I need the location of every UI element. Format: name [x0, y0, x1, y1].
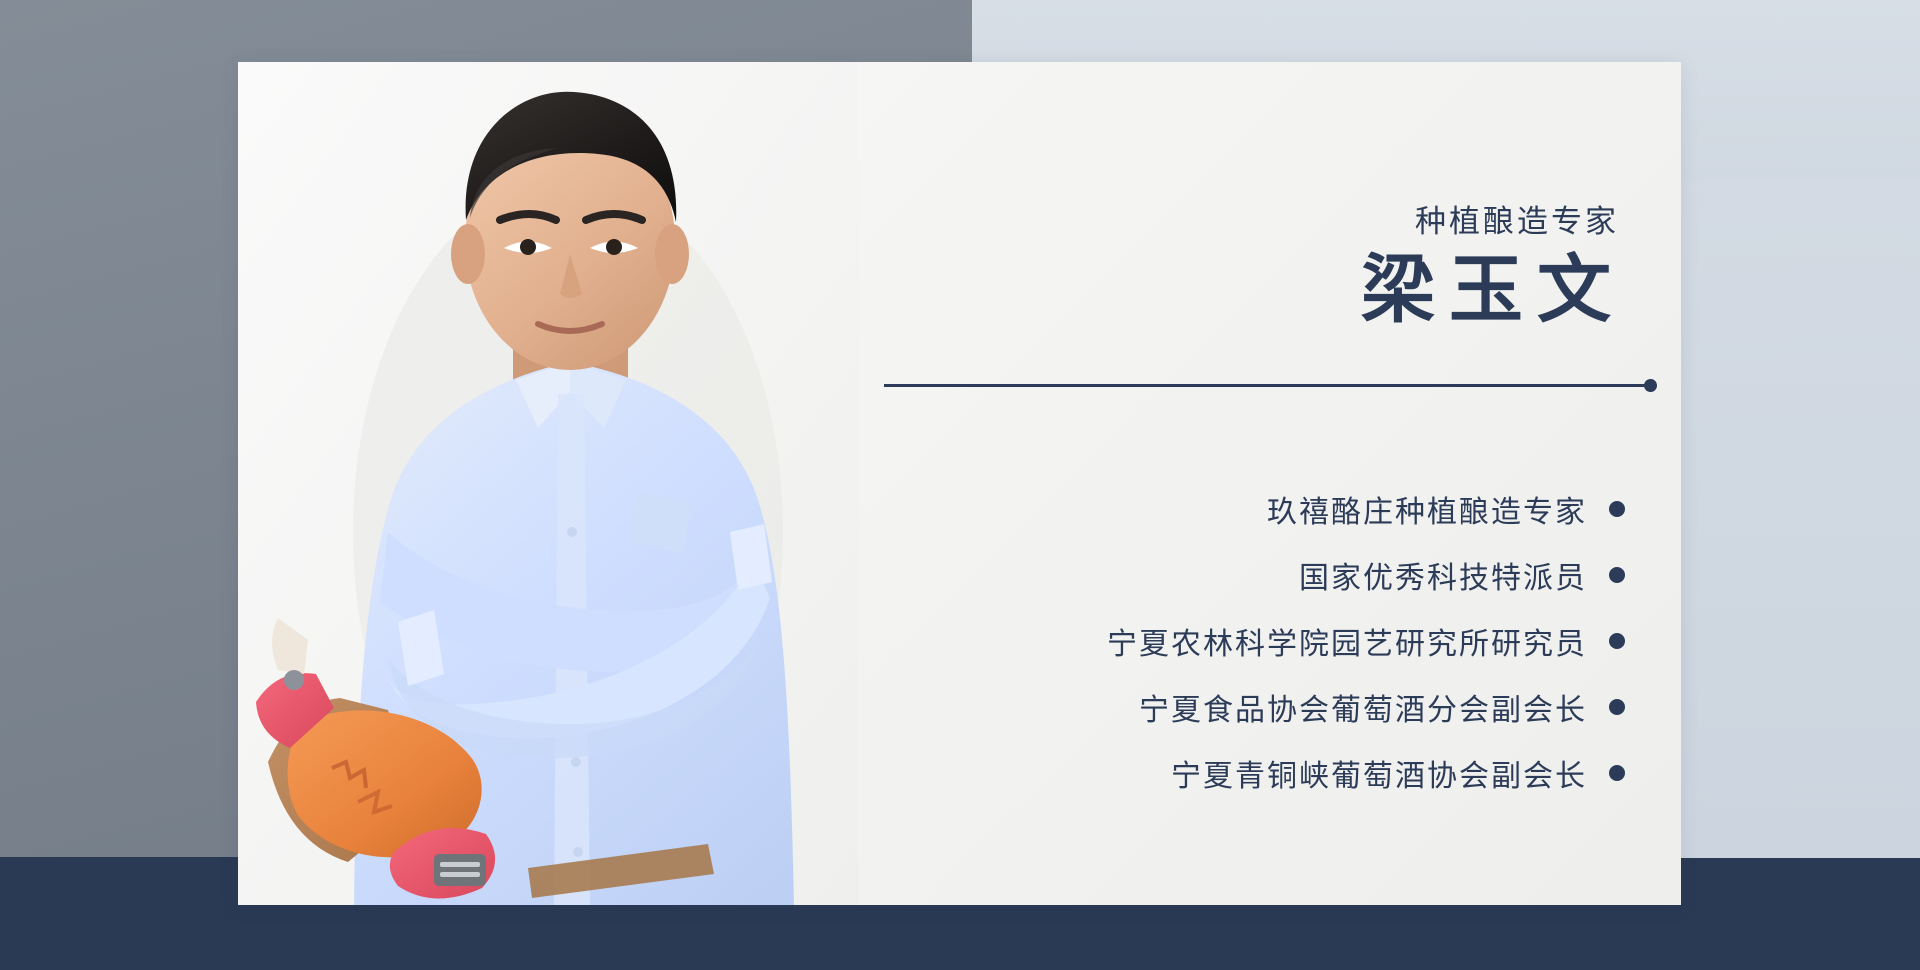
bullet-dot-icon	[1609, 567, 1625, 583]
role-subtitle: 种植酿造专家	[1415, 196, 1619, 241]
divider-line	[884, 384, 1649, 387]
poster-canvas: 种植酿造专家 梁玉文 玖禧酪庄种植酿造专家 国家优秀科技特派员 宁夏农林科学院园…	[0, 0, 1920, 970]
bullet-dot-icon	[1609, 501, 1625, 517]
portrait-container	[238, 62, 858, 905]
credential-text: 宁夏农林科学院园艺研究所研究员	[1107, 619, 1587, 663]
bullet-dot-icon	[1609, 765, 1625, 781]
divider-end-dot	[1644, 379, 1657, 392]
portrait-photo	[238, 62, 858, 905]
list-item: 玖禧酪庄种植酿造专家	[865, 482, 1625, 536]
list-item: 宁夏青铜峡葡萄酒协会副会长	[865, 746, 1625, 800]
credential-text: 宁夏食品协会葡萄酒分会副会长	[1139, 685, 1587, 729]
bullet-dot-icon	[1609, 699, 1625, 715]
card-text-content: 种植酿造专家 梁玉文 玖禧酪庄种植酿造专家 国家优秀科技特派员 宁夏农林科学院园…	[858, 62, 1681, 905]
credential-text: 国家优秀科技特派员	[1299, 553, 1587, 597]
person-name: 梁玉文	[1361, 252, 1625, 332]
credential-text: 宁夏青铜峡葡萄酒协会副会长	[1171, 751, 1587, 795]
credentials-list: 玖禧酪庄种植酿造专家 国家优秀科技特派员 宁夏农林科学院园艺研究所研究员 宁夏食…	[865, 482, 1625, 812]
list-item: 国家优秀科技特派员	[865, 548, 1625, 602]
bullet-dot-icon	[1609, 633, 1625, 649]
list-item: 宁夏农林科学院园艺研究所研究员	[865, 614, 1625, 668]
list-item: 宁夏食品协会葡萄酒分会副会长	[865, 680, 1625, 734]
credential-text: 玖禧酪庄种植酿造专家	[1267, 487, 1587, 531]
profile-card: 种植酿造专家 梁玉文 玖禧酪庄种植酿造专家 国家优秀科技特派员 宁夏农林科学院园…	[238, 62, 1681, 905]
